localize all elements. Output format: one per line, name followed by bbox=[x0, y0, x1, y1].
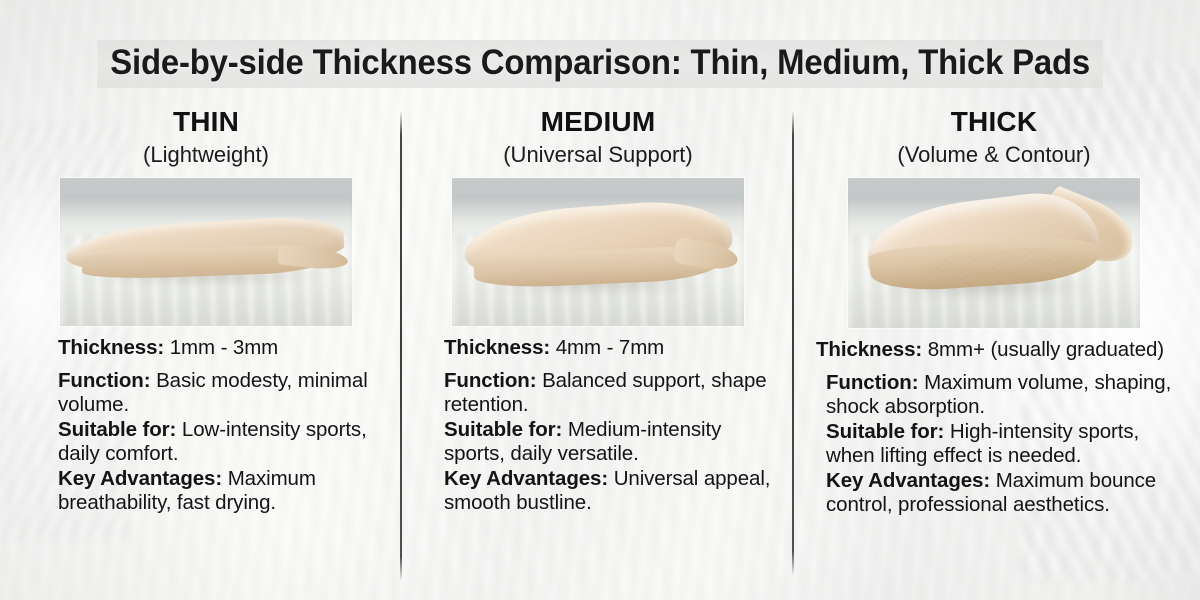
spec-function: Function: Basic modesty, minimal volume. bbox=[58, 369, 386, 417]
specs-thick: Thickness: 8mm+ (usually graduated) Func… bbox=[800, 338, 1188, 517]
product-photo-thin bbox=[60, 178, 352, 326]
spec-label-suitable-for: Suitable for: bbox=[826, 420, 944, 443]
spec-key-advantages: Key Advantages: Maximum bounce control, … bbox=[816, 469, 1186, 517]
column-heading-thin: THIN bbox=[20, 108, 392, 136]
pad-shape-thin bbox=[66, 222, 344, 284]
pad-shape-thick bbox=[866, 194, 1124, 300]
column-heading-thick: THICK bbox=[800, 108, 1188, 136]
spec-label-key-advantages: Key Advantages: bbox=[444, 467, 608, 490]
product-photo-medium bbox=[452, 178, 744, 326]
spec-label-function: Function: bbox=[444, 369, 536, 392]
spec-label-key-advantages: Key Advantages: bbox=[58, 467, 222, 490]
page-title: Side-by-side Thickness Comparison: Thin,… bbox=[97, 40, 1103, 88]
pad-shape-medium bbox=[464, 206, 732, 292]
spec-value-thickness: 1mm - 3mm bbox=[170, 336, 278, 359]
spec-thickness: Thickness: 4mm - 7mm bbox=[444, 336, 782, 360]
spec-value-thickness: 8mm+ (usually graduated) bbox=[928, 338, 1164, 361]
photo-wrap-thin bbox=[20, 178, 392, 326]
spec-label-function: Function: bbox=[826, 371, 918, 394]
spec-function: Function: Maximum volume, shaping, shock… bbox=[816, 371, 1186, 419]
spec-suitable-for: Suitable for: High-intensity sports, whe… bbox=[816, 420, 1186, 468]
photo-wrap-thick bbox=[800, 178, 1188, 328]
spec-key-advantages: Key Advantages: Universal appeal, smooth… bbox=[444, 467, 782, 515]
spec-suitable-for: Suitable for: Low-intensity sports, dail… bbox=[58, 418, 386, 466]
column-divider-2 bbox=[792, 112, 794, 574]
column-divider-1 bbox=[400, 112, 402, 580]
spec-suitable-for: Suitable for: Medium-intensity sports, d… bbox=[444, 418, 782, 466]
spec-key-advantages: Key Advantages: Maximum breathability, f… bbox=[58, 467, 386, 515]
spec-label-key-advantages: Key Advantages: bbox=[826, 469, 990, 492]
comparison-column-thick: THICK (Volume & Contour) Thickness: 8mm+… bbox=[800, 108, 1188, 518]
spec-value-thickness: 4mm - 7mm bbox=[556, 336, 664, 359]
title-bar: Side-by-side Thickness Comparison: Thin,… bbox=[0, 40, 1200, 88]
spec-label-suitable-for: Suitable for: bbox=[444, 418, 562, 441]
spec-label-thickness: Thickness: bbox=[444, 336, 550, 359]
spec-thickness: Thickness: 1mm - 3mm bbox=[58, 336, 386, 360]
specs-medium: Thickness: 4mm - 7mm Function: Balanced … bbox=[410, 336, 786, 515]
spec-label-thickness: Thickness: bbox=[58, 336, 164, 359]
spec-label-suitable-for: Suitable for: bbox=[58, 418, 176, 441]
product-photo-thick bbox=[848, 178, 1140, 328]
column-heading-medium: MEDIUM bbox=[410, 108, 786, 136]
specs-thin: Thickness: 1mm - 3mm Function: Basic mod… bbox=[20, 336, 392, 515]
spec-label-function: Function: bbox=[58, 369, 150, 392]
spec-function: Function: Balanced support, shape retent… bbox=[444, 369, 782, 417]
comparison-column-medium: MEDIUM (Universal Support) Thickness: 4m… bbox=[410, 108, 786, 516]
spec-label-thickness: Thickness: bbox=[816, 338, 922, 361]
photo-wrap-medium bbox=[410, 178, 786, 326]
thickness-comparison-infographic: Side-by-side Thickness Comparison: Thin,… bbox=[0, 0, 1200, 600]
spec-thickness: Thickness: 8mm+ (usually graduated) bbox=[816, 338, 1186, 362]
column-subtitle-thin: (Lightweight) bbox=[20, 143, 392, 166]
comparison-column-thin: THIN (Lightweight) Thickness: 1mm - 3mm … bbox=[20, 108, 392, 516]
column-subtitle-medium: (Universal Support) bbox=[410, 143, 786, 166]
column-subtitle-thick: (Volume & Contour) bbox=[800, 143, 1188, 166]
